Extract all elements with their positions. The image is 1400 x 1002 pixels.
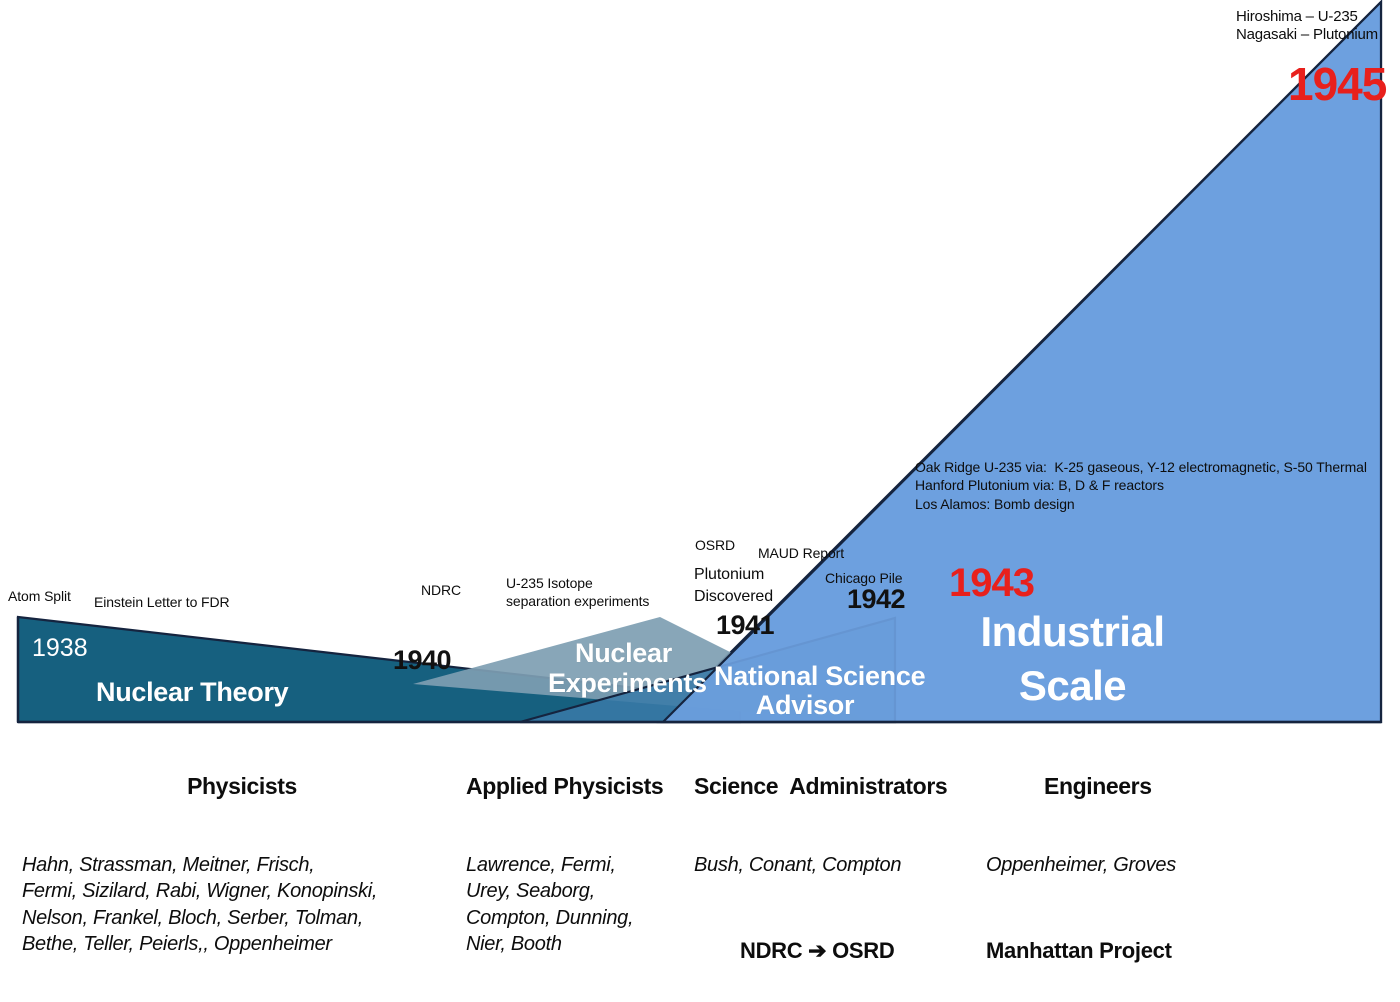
phase-label-nuclear-experiments-line2: Experiments [548,668,698,700]
phase-label-nuclear-experiments-line1: Nuclear [575,638,671,670]
year-1940: 1940 [393,645,451,677]
annotation-plutonium-line1: Plutonium [694,566,764,585]
role-title-engineers: Engineers [1044,773,1266,800]
annotation-einstein-letter: Einstein Letter to FDR [94,594,230,611]
annotation-osrd: OSRD [695,537,735,554]
annotation-nagasaki: Nagasaki – Plutonium [1236,26,1378,44]
timeline-figure: Atom Split Einstein Letter to FDR NDRC U… [0,0,1400,893]
role-names-physicists: Hahn, Strassman, Meitner, Frisch, Fermi,… [22,852,462,958]
annotation-hanford: Hanford Plutonium via: B, D & F reactors [915,477,1164,494]
role-column-science-administrators: Science Administrators Bush, Conant, Com… [694,735,954,1002]
annotation-los-alamos: Los Alamos: Bomb design [915,496,1075,513]
annotation-plutonium-line2: Discovered [694,588,773,607]
role-title-applied-physicists: Applied Physicists [466,773,676,800]
role-column-applied-physicists: Applied Physicists Lawrence, Fermi, Urey… [466,735,676,996]
year-1941: 1941 [716,610,774,642]
role-names-engineers: Oppenheimer, Groves [986,852,1266,879]
annotation-atom-split: Atom Split [8,588,71,605]
role-column-engineers: Engineers Oppenheimer, Groves Manhattan … [986,735,1266,1002]
role-column-physicists: Physicists Hahn, Strassman, Meitner, Fri… [22,735,462,996]
year-1942: 1942 [847,584,905,616]
role-title-physicists: Physicists [22,773,462,800]
phase-label-nsa-line2: Advisor [714,690,896,722]
year-1943: 1943 [949,560,1034,607]
role-extra-science-administrators: NDRC ➔ OSRD [740,938,954,964]
role-names-applied-physicists: Lawrence, Fermi, Urey, Seaborg, Compton,… [466,852,676,958]
role-title-science-administrators: Science Administrators [694,773,954,800]
phase-label-industrial-line2: Scale [960,660,1185,713]
year-1938: 1938 [32,634,88,664]
role-names-science-administrators: Bush, Conant, Compton [694,852,954,879]
phase-label-industrial-line1: Industrial [960,606,1185,659]
annotation-u235-line2: separation experiments [506,593,649,610]
role-extra-engineers: Manhattan Project [986,938,1266,964]
phase-label-nsa-line1: National Science [714,661,925,693]
annotation-u235-line1: U-235 Isotope [506,575,593,592]
industrial-scale-tail [520,718,1381,722]
annotation-hiroshima: Hiroshima – U-235 [1236,8,1358,26]
phase-label-nuclear-theory: Nuclear Theory [96,677,288,709]
annotation-ndrc: NDRC [421,582,461,599]
annotation-maud-report: MAUD Report [758,545,844,562]
year-1945: 1945 [1288,57,1386,111]
annotation-oak-ridge: Oak Ridge U-235 via: K-25 gaseous, Y-12 … [915,459,1367,476]
